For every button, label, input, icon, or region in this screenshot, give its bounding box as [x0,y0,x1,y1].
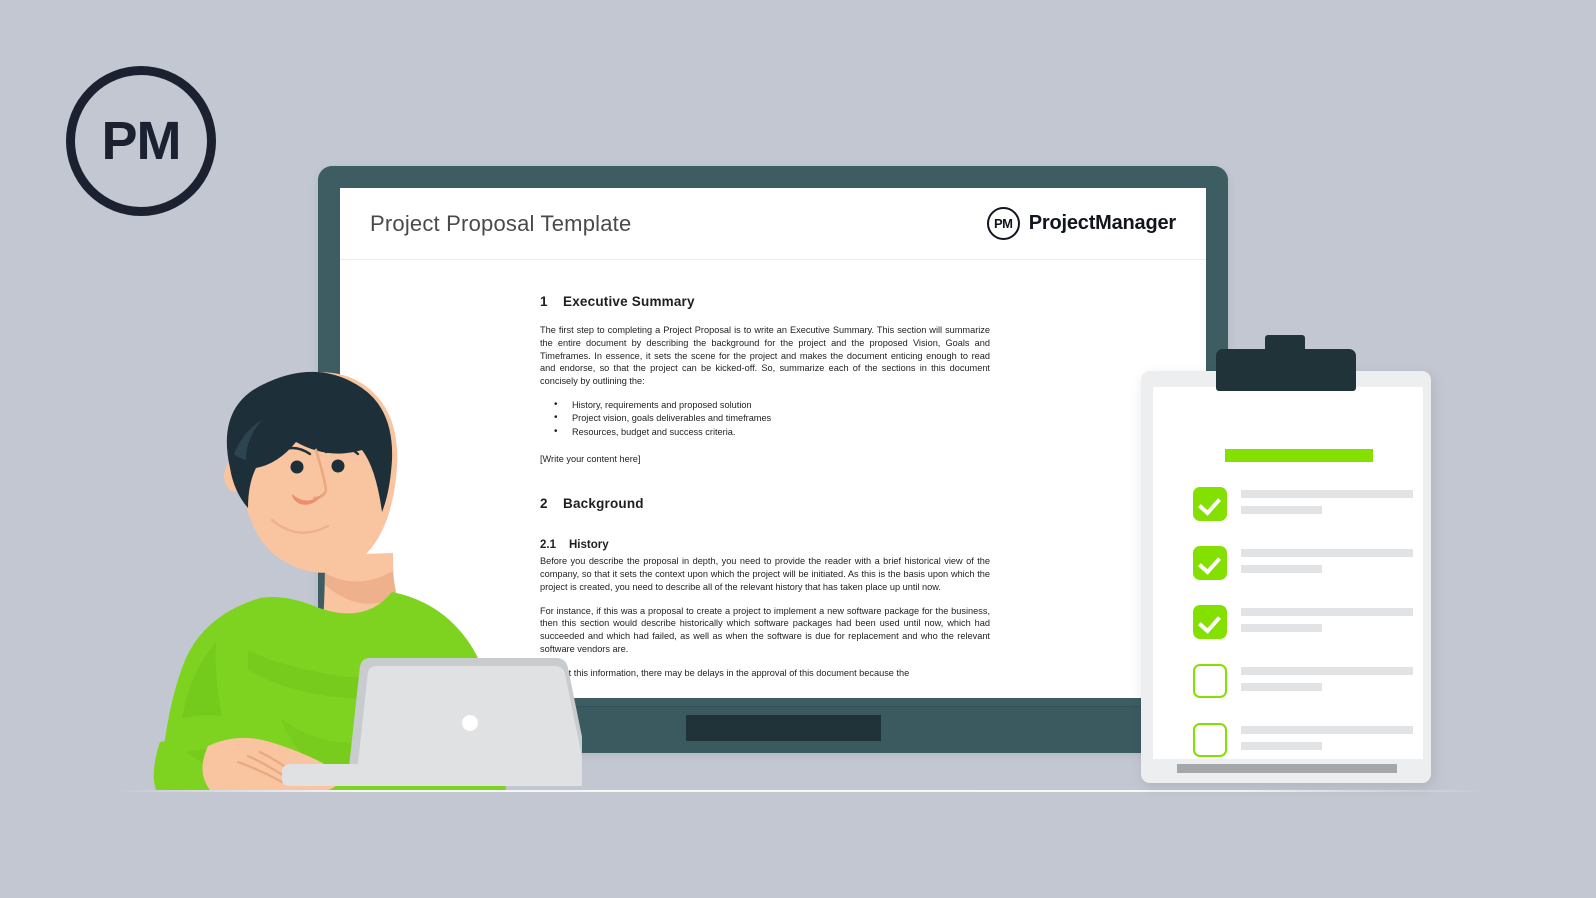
clipboard-clip [1216,349,1356,391]
clipboard [1141,371,1431,783]
list-item-text [1241,546,1413,573]
text-placeholder-line [1241,608,1413,616]
subsection-2-1-heading: 2.1 History [540,539,990,551]
projectmanager-logo: PM ProjectManager [987,207,1176,240]
list-item[interactable] [1193,664,1413,704]
list-item[interactable] [1193,546,1413,586]
document-title: Project Proposal Template [370,211,631,237]
list-item[interactable] [1193,605,1413,645]
laptop-logo [462,715,478,731]
checkbox-unchecked-icon[interactable] [1193,664,1227,698]
list-item-text [1241,487,1413,514]
clipboard-checklist [1193,487,1413,782]
text-placeholder-line [1241,565,1322,573]
section-1-paragraph: The first step to completing a Project P… [540,324,990,388]
laptop [282,640,582,790]
pm-badge-label: PM [66,66,216,216]
section-1-bullet-list: History, requirements and proposed solut… [540,399,990,440]
text-placeholder-line [1241,726,1413,734]
checkbox-checked-icon[interactable] [1193,605,1227,639]
subsection-spacer [540,526,990,539]
checkbox-checked-icon[interactable] [1193,487,1227,521]
text-placeholder-line [1241,742,1322,750]
section-1-placeholder: [Write your content here] [540,453,990,466]
document-header: Project Proposal Template PM ProjectMana… [340,188,1206,260]
text-placeholder-line [1241,624,1322,632]
subsection-paragraph-3: Without this information, there may be d… [540,667,990,680]
list-item: Project vision, goals deliverables and t… [554,412,990,426]
list-item: History, requirements and proposed solut… [554,399,990,413]
document-text-column: 1 Executive Summary The first step to co… [540,294,990,680]
brand-name-label: ProjectManager [1029,212,1176,235]
subsection-paragraph-1: Before you describe the proposal in dept… [540,555,990,593]
pm-logo-icon: PM [987,207,1020,240]
section-1-title: Executive Summary [563,294,695,309]
subsection-2-1-title: History [569,539,609,551]
subsection-paragraph-2: For instance, if this was a proposal to … [540,605,990,656]
eye-right [332,460,345,473]
text-placeholder-line [1241,490,1413,498]
section-2-title: Background [563,496,644,511]
section-1-number: 1 [540,294,563,309]
pm-circle-badge: PM [66,66,216,216]
checkbox-unchecked-icon[interactable] [1193,723,1227,757]
text-placeholder-line [1241,683,1322,691]
clipboard-title-bar [1225,449,1373,462]
laptop-base [282,764,582,786]
section-spacer [540,477,990,496]
list-item-text [1241,664,1413,691]
illustration-canvas: PM Project Proposal Template PM ProjectM… [0,0,1596,898]
monitor-stand [686,715,706,741]
list-item[interactable] [1193,487,1413,527]
section-1-heading: 1 Executive Summary [540,294,990,309]
list-item[interactable] [1193,723,1413,763]
text-placeholder-line [1241,506,1322,514]
text-placeholder-line [1241,667,1413,675]
text-placeholder-line [1241,549,1413,557]
eye-left [291,461,304,474]
list-item-text [1241,723,1413,750]
section-2-heading: 2 Background [540,496,990,511]
checkbox-checked-icon[interactable] [1193,546,1227,580]
list-item-text [1241,605,1413,632]
ground-line [110,790,1486,792]
list-item: Resources, budget and success criteria. [554,426,990,440]
